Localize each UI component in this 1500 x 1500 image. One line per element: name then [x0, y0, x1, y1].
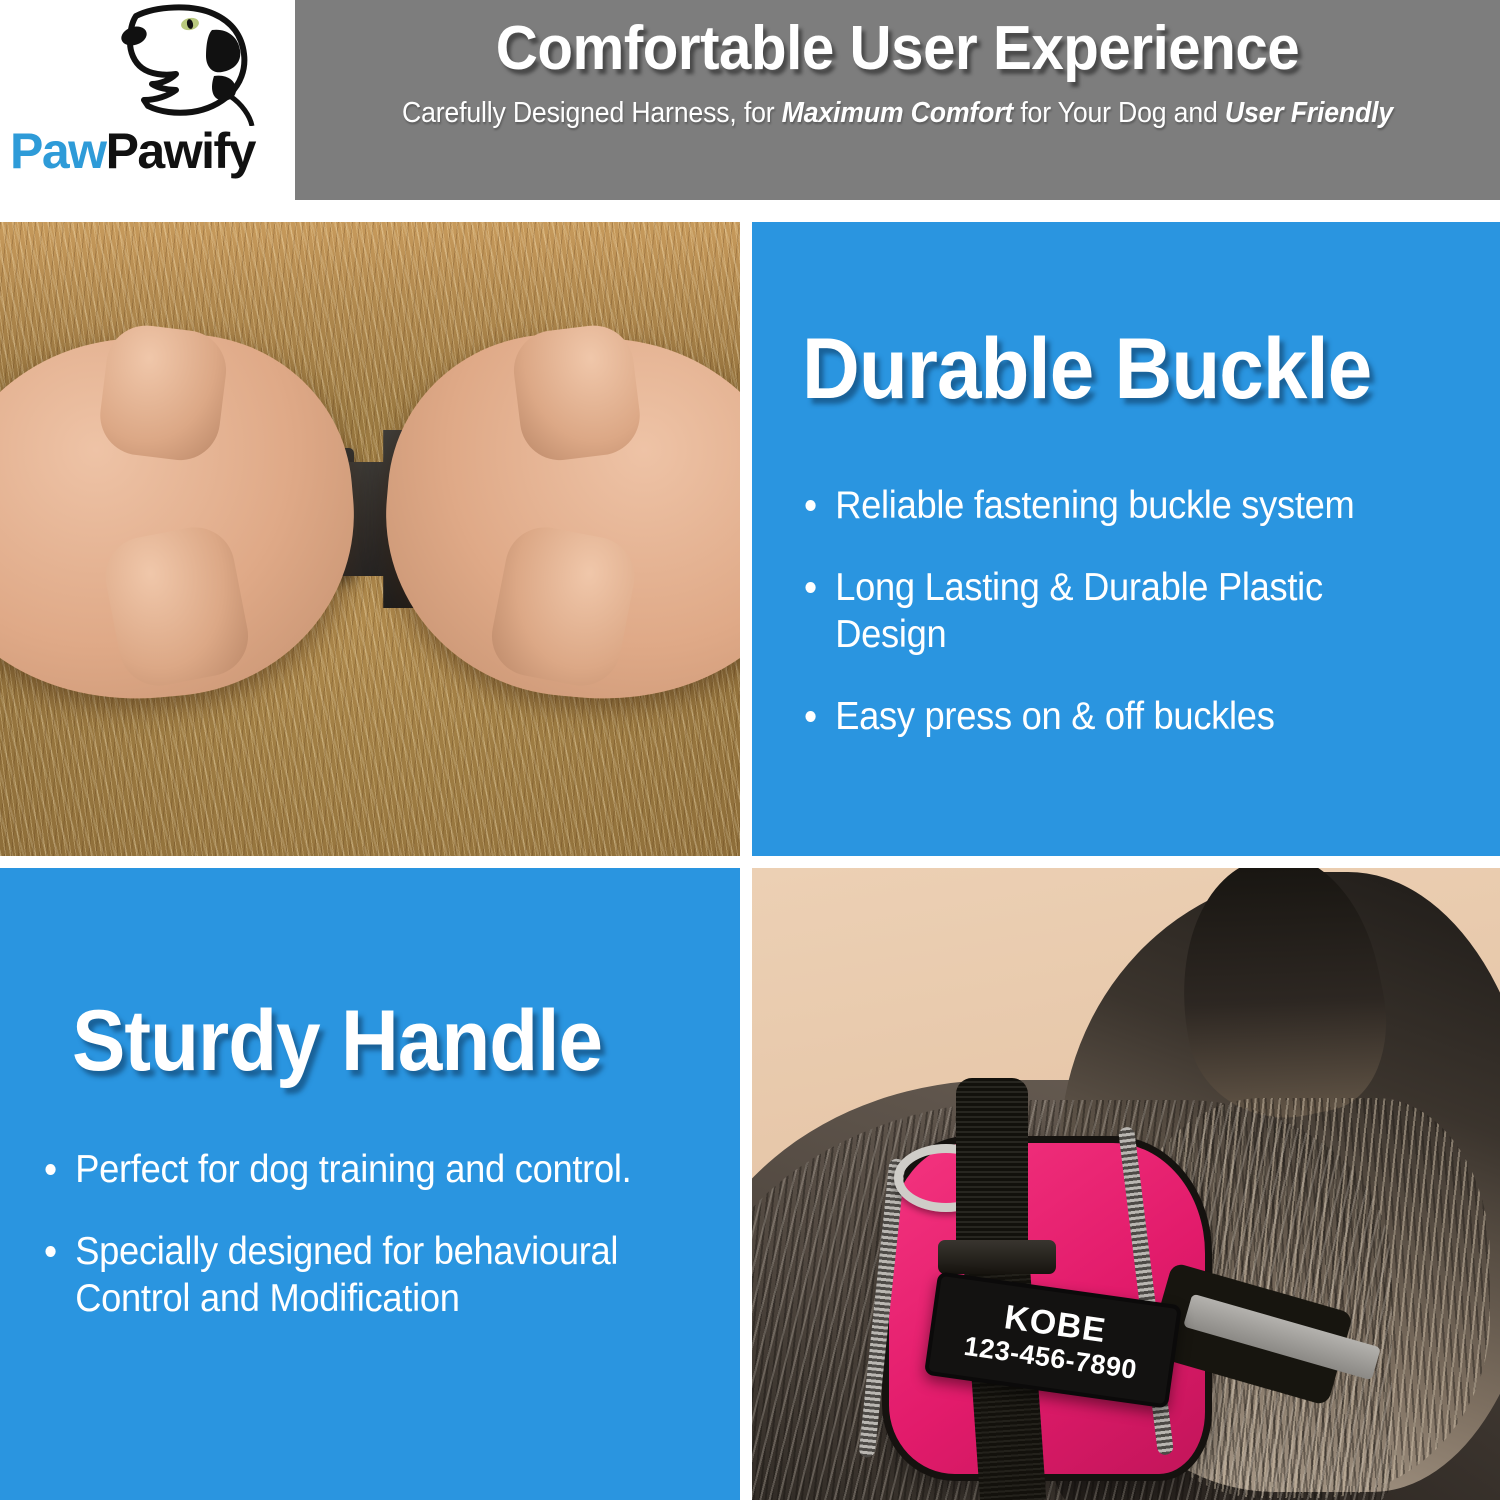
page-header: PawPawify Comfortable User Experience Ca…	[0, 0, 1500, 208]
dog-harness-photo-panel: KOBE 123-456-7890	[752, 868, 1500, 1500]
list-item: Long Lasting & Durable Plastic Design	[798, 564, 1414, 659]
sturdy-handle-title: Sturdy Handle	[72, 998, 669, 1084]
harness-handle	[956, 1078, 1028, 1258]
sturdy-handle-bullet-list: Perfect for dog training and control. Sp…	[38, 1146, 714, 1323]
brand-name-part1: Paw	[10, 123, 106, 179]
list-item: Specially designed for behavioural Contr…	[38, 1228, 667, 1323]
page-subtitle: Carefully Designed Harness, for Maximum …	[367, 97, 1428, 130]
subtitle-text-2: for Your Dog and	[1013, 97, 1225, 129]
feature-grid: Durable Buckle Reliable fastening buckle…	[0, 222, 1500, 1500]
dog-harness-photo-image: KOBE 123-456-7890	[752, 868, 1500, 1500]
handle-adjuster-buckle	[938, 1240, 1056, 1274]
list-item: Easy press on & off buckles	[798, 693, 1414, 741]
list-item: Reliable fastening buckle system	[798, 482, 1414, 530]
header-banner: Comfortable User Experience Carefully De…	[295, 0, 1500, 200]
subtitle-text-1: Carefully Designed Harness, for	[402, 97, 782, 129]
durable-buckle-panel: Durable Buckle Reliable fastening buckle…	[752, 222, 1500, 856]
subtitle-emphasis-1: Maximum Comfort	[782, 97, 1013, 129]
subtitle-emphasis-2: User Friendly	[1225, 97, 1393, 129]
durable-buckle-bullet-list: Reliable fastening buckle system Long La…	[798, 482, 1460, 740]
finger-left-upper	[96, 321, 231, 465]
brand-name-part2: Pawify	[106, 123, 255, 179]
finger-right-lower	[485, 520, 641, 692]
list-item: Perfect for dog training and control.	[38, 1146, 667, 1194]
buckle-photo-panel	[0, 222, 740, 856]
finger-left-lower	[99, 520, 255, 692]
brand-wordmark: PawPawify	[10, 126, 290, 176]
finger-right-upper	[509, 321, 644, 465]
dog-head-icon	[64, 4, 264, 126]
durable-buckle-title: Durable Buckle	[802, 326, 1414, 412]
sturdy-handle-panel: Sturdy Handle Perfect for dog training a…	[0, 868, 740, 1500]
brand-logo: PawPawify	[0, 0, 295, 208]
page-title: Comfortable User Experience	[356, 16, 1440, 83]
buckle-photo-image	[0, 222, 740, 856]
